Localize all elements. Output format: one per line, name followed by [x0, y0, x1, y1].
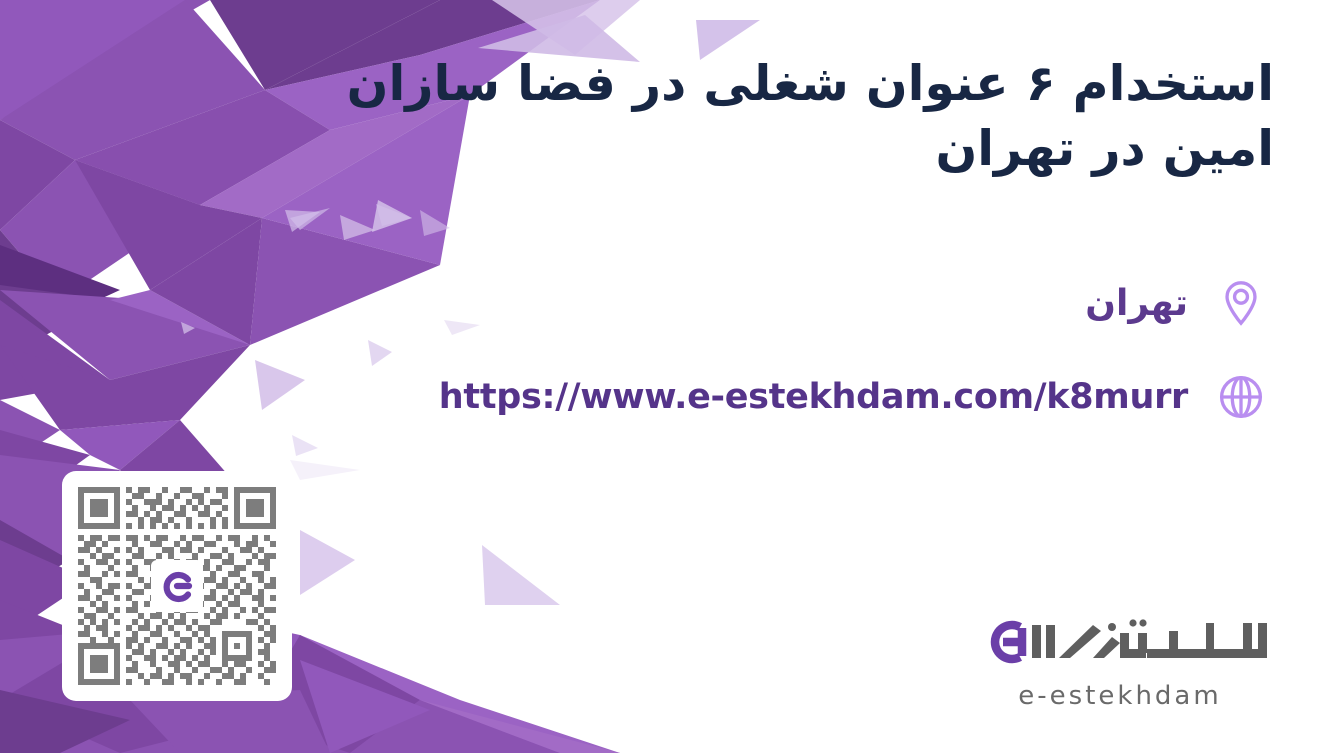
qr-code[interactable] [62, 471, 292, 701]
website-row[interactable]: https://www.e-estekhdam.com/k8murr [439, 370, 1268, 424]
social-share-card: استخدام ۶ عنوان شغلی در فضا سازان امین د… [0, 0, 1340, 753]
title-block: استخدام ۶ عنوان شغلی در فضا سازان امین د… [344, 52, 1274, 181]
qr-modules [78, 487, 276, 685]
brand-logo-mark [962, 609, 1278, 679]
location-value: تهران [1085, 283, 1188, 324]
brand-logo-subtitle: e-estekhdam [962, 681, 1278, 711]
website-url[interactable]: https://www.e-estekhdam.com/k8murr [439, 377, 1188, 417]
map-pin-icon [1214, 276, 1268, 330]
brand-logo: e-estekhdam [962, 609, 1278, 711]
globe-icon [1214, 370, 1268, 424]
qr-center-e-icon [151, 560, 203, 612]
location-row: تهران [1085, 276, 1268, 330]
page-title: استخدام ۶ عنوان شغلی در فضا سازان امین د… [344, 52, 1274, 181]
